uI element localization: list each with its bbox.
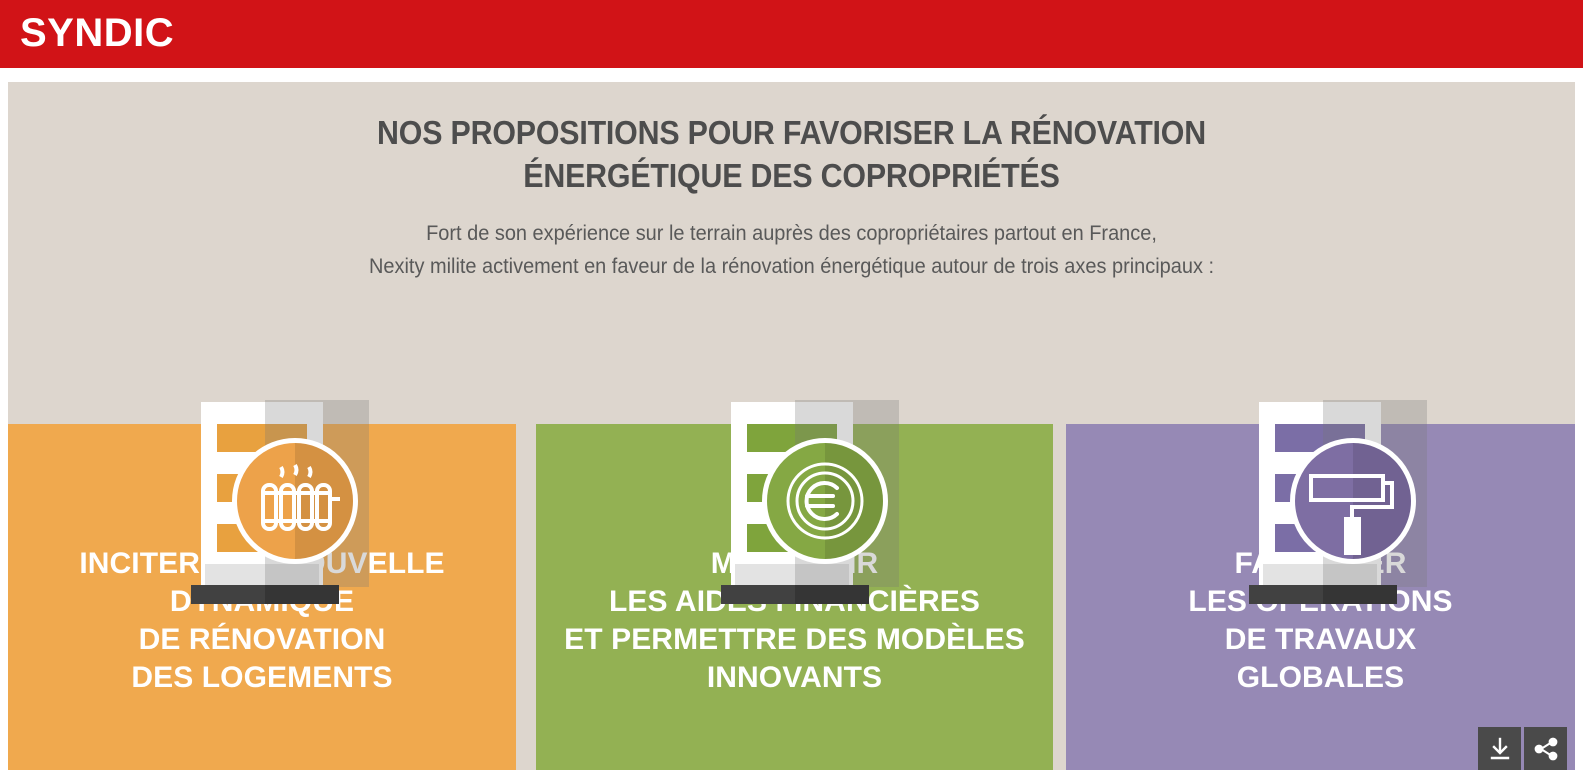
main-title: NOS PROPOSITIONS POUR FAVORISER LA RÉNOV… — [71, 111, 1513, 197]
caption-line: MAINTENIR — [550, 545, 1039, 583]
panel-inciter-renovation[interactable]: INCITER UNE NOUVELLE DYNAMIQUE DE RÉNOVA… — [8, 424, 516, 770]
panel-maintenir-aides[interactable]: MAINTENIR LES AIDES FINANCIÈRES ET PERME… — [536, 424, 1053, 770]
caption-line: INCITER UNE NOUVELLE — [22, 545, 502, 583]
download-icon — [1487, 736, 1513, 762]
panel-caption: MAINTENIR LES AIDES FINANCIÈRES ET PERME… — [536, 545, 1053, 697]
main-title-line-1: NOS PROPOSITIONS POUR FAVORISER LA RÉNOV… — [71, 111, 1513, 154]
share-button[interactable] — [1524, 727, 1567, 770]
caption-line: LES OPÉRATIONS — [1080, 583, 1561, 621]
caption-line: DES LOGEMENTS — [22, 659, 502, 697]
title-block: NOS PROPOSITIONS POUR FAVORISER LA RÉNOV… — [8, 111, 1575, 283]
action-button-bar — [1478, 727, 1567, 770]
subtitle: Fort de son expérience sur le terrain au… — [47, 217, 1536, 283]
subtitle-line-1: Fort de son expérience sur le terrain au… — [47, 217, 1536, 250]
caption-line: INNOVANTS — [550, 659, 1039, 697]
caption-line: DE RÉNOVATION — [22, 621, 502, 659]
main-title-line-2: ÉNERGÉTIQUE DES COPROPRIÉTÉS — [71, 154, 1513, 197]
panel-caption: FAVORISER LES OPÉRATIONS DE TRAVAUX GLOB… — [1066, 545, 1575, 697]
content-canvas: NOS PROPOSITIONS POUR FAVORISER LA RÉNOV… — [8, 82, 1575, 770]
infographic-page: SYNDIC NOS PROPOSITIONS POUR FAVORISER L… — [0, 0, 1583, 770]
caption-line: DYNAMIQUE — [22, 583, 502, 621]
header-bar: SYNDIC — [0, 0, 1583, 68]
page-title: SYNDIC — [20, 9, 174, 57]
download-button[interactable] — [1478, 727, 1521, 770]
subtitle-line-2: Nexity milite activement en faveur de la… — [47, 250, 1536, 283]
caption-line: FAVORISER — [1080, 545, 1561, 583]
caption-line: GLOBALES — [1080, 659, 1561, 697]
caption-line: DE TRAVAUX — [1080, 621, 1561, 659]
share-icon — [1533, 736, 1559, 762]
caption-line: LES AIDES FINANCIÈRES — [550, 583, 1039, 621]
caption-line: ET PERMETTRE DES MODÈLES — [550, 621, 1039, 659]
panel-caption: INCITER UNE NOUVELLE DYNAMIQUE DE RÉNOVA… — [8, 545, 516, 697]
panel-favoriser-travaux[interactable]: FAVORISER LES OPÉRATIONS DE TRAVAUX GLOB… — [1066, 424, 1575, 770]
